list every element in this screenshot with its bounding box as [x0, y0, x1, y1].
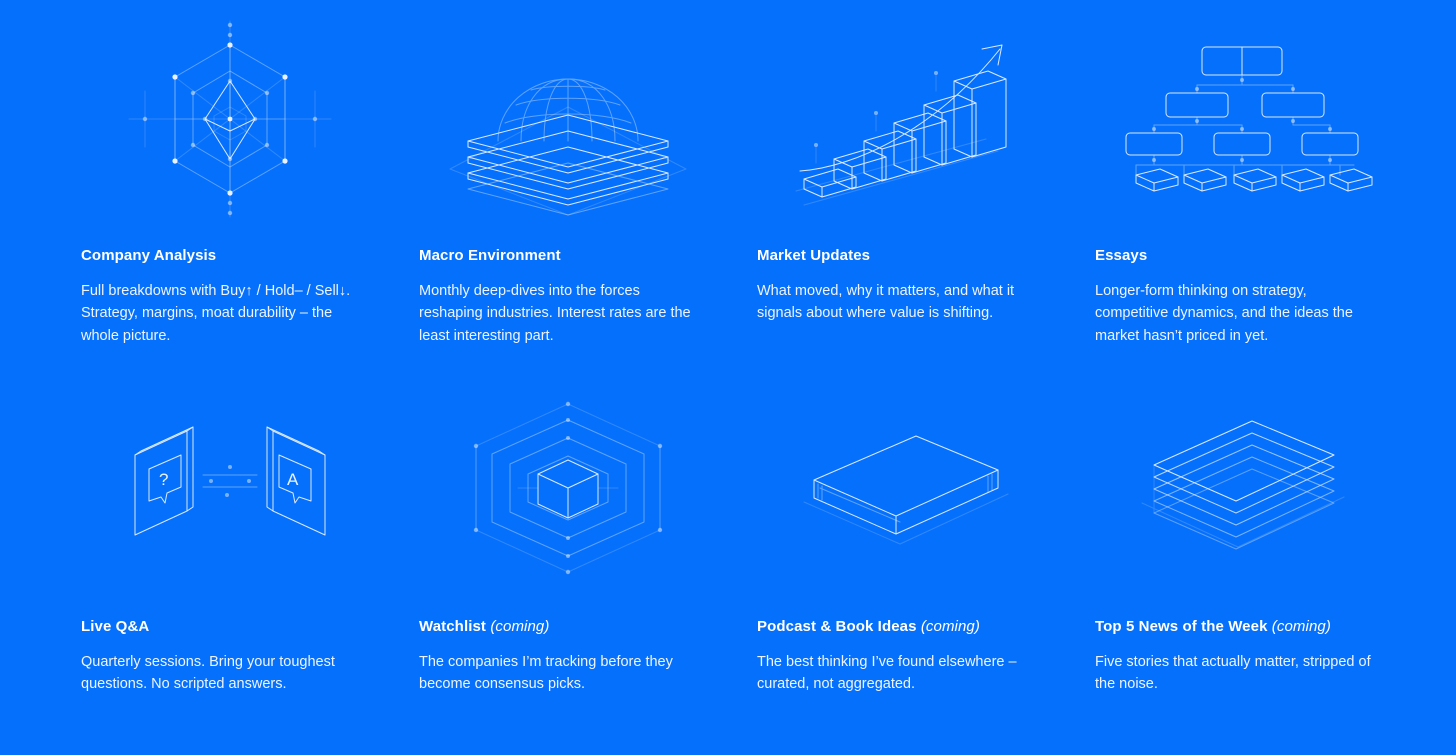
card-title: Watchlist (coming): [419, 617, 717, 637]
feature-grid: Company Analysis Full breakdowns with Bu…: [0, 0, 1456, 755]
card-description: Monthly deep-dives into the forces resha…: [419, 280, 701, 348]
card-description: Quarterly sessions. Bring your toughest …: [81, 651, 371, 696]
feature-card-company-analysis[interactable]: Company Analysis Full breakdowns with Bu…: [81, 14, 419, 347]
card-title: Live Q&A: [81, 617, 379, 637]
feature-row-2: ? A: [81, 347, 1456, 696]
card-badge: (coming): [490, 618, 549, 635]
card-title: Company Analysis: [81, 246, 379, 266]
question-answer-panels-icon: ? A: [81, 393, 379, 583]
feature-card-top-news[interactable]: Top 5 News of the Week (coming) Five sto…: [1095, 393, 1433, 696]
card-title: Essays: [1095, 246, 1393, 266]
svg-text:?: ?: [159, 470, 168, 489]
feature-card-market-updates[interactable]: Market Updates What moved, why it matter…: [757, 14, 1095, 347]
card-title-text: Market Updates: [757, 247, 870, 264]
feature-card-macro-environment[interactable]: Macro Environment Monthly deep-dives int…: [419, 14, 757, 347]
feature-row-1: Company Analysis Full breakdowns with Bu…: [81, 0, 1456, 347]
card-title-text: Top 5 News of the Week: [1095, 618, 1268, 635]
feature-card-watchlist[interactable]: Watchlist (coming) The companies I’m tra…: [419, 393, 757, 696]
hexagon-wireframe-icon: [81, 14, 379, 224]
card-title: Podcast & Book Ideas (coming): [757, 617, 1055, 637]
card-title-text: Essays: [1095, 247, 1147, 264]
card-title: Top 5 News of the Week (coming): [1095, 617, 1393, 637]
card-description: The best thinking I’ve found elsewhere –…: [757, 651, 1047, 696]
globe-layers-icon: [419, 14, 717, 224]
card-title-text: Podcast & Book Ideas: [757, 618, 917, 635]
feature-card-essays[interactable]: Essays Longer-form thinking on strategy,…: [1095, 14, 1433, 347]
card-title-text: Company Analysis: [81, 247, 216, 264]
feature-card-live-qa[interactable]: ? A: [81, 393, 419, 696]
card-title-text: Watchlist: [419, 618, 486, 635]
svg-text:A: A: [287, 470, 299, 489]
feature-card-podcast-book-ideas[interactable]: Podcast & Book Ideas (coming) The best t…: [757, 393, 1095, 696]
card-badge: (coming): [1272, 618, 1331, 635]
card-title-text: Macro Environment: [419, 247, 561, 264]
book-icon: [757, 393, 1055, 583]
card-badge: (coming): [921, 618, 980, 635]
card-title: Macro Environment: [419, 246, 717, 266]
card-description: The companies I’m tracking before they b…: [419, 651, 709, 696]
concentric-hexagons-cube-icon: [419, 393, 717, 583]
card-description: What moved, why it matters, and what it …: [757, 280, 1039, 325]
card-description: Full breakdowns with Buy↑ / Hold– / Sell…: [81, 280, 363, 348]
bar-chart-growth-icon: [757, 14, 1055, 224]
card-title-text: Live Q&A: [81, 618, 149, 635]
org-chart-tree-icon: [1095, 14, 1393, 224]
card-description: Five stories that actually matter, strip…: [1095, 651, 1385, 696]
card-description: Longer-form thinking on strategy, compet…: [1095, 280, 1377, 348]
card-title: Market Updates: [757, 246, 1055, 266]
paper-stack-icon: [1095, 393, 1393, 583]
